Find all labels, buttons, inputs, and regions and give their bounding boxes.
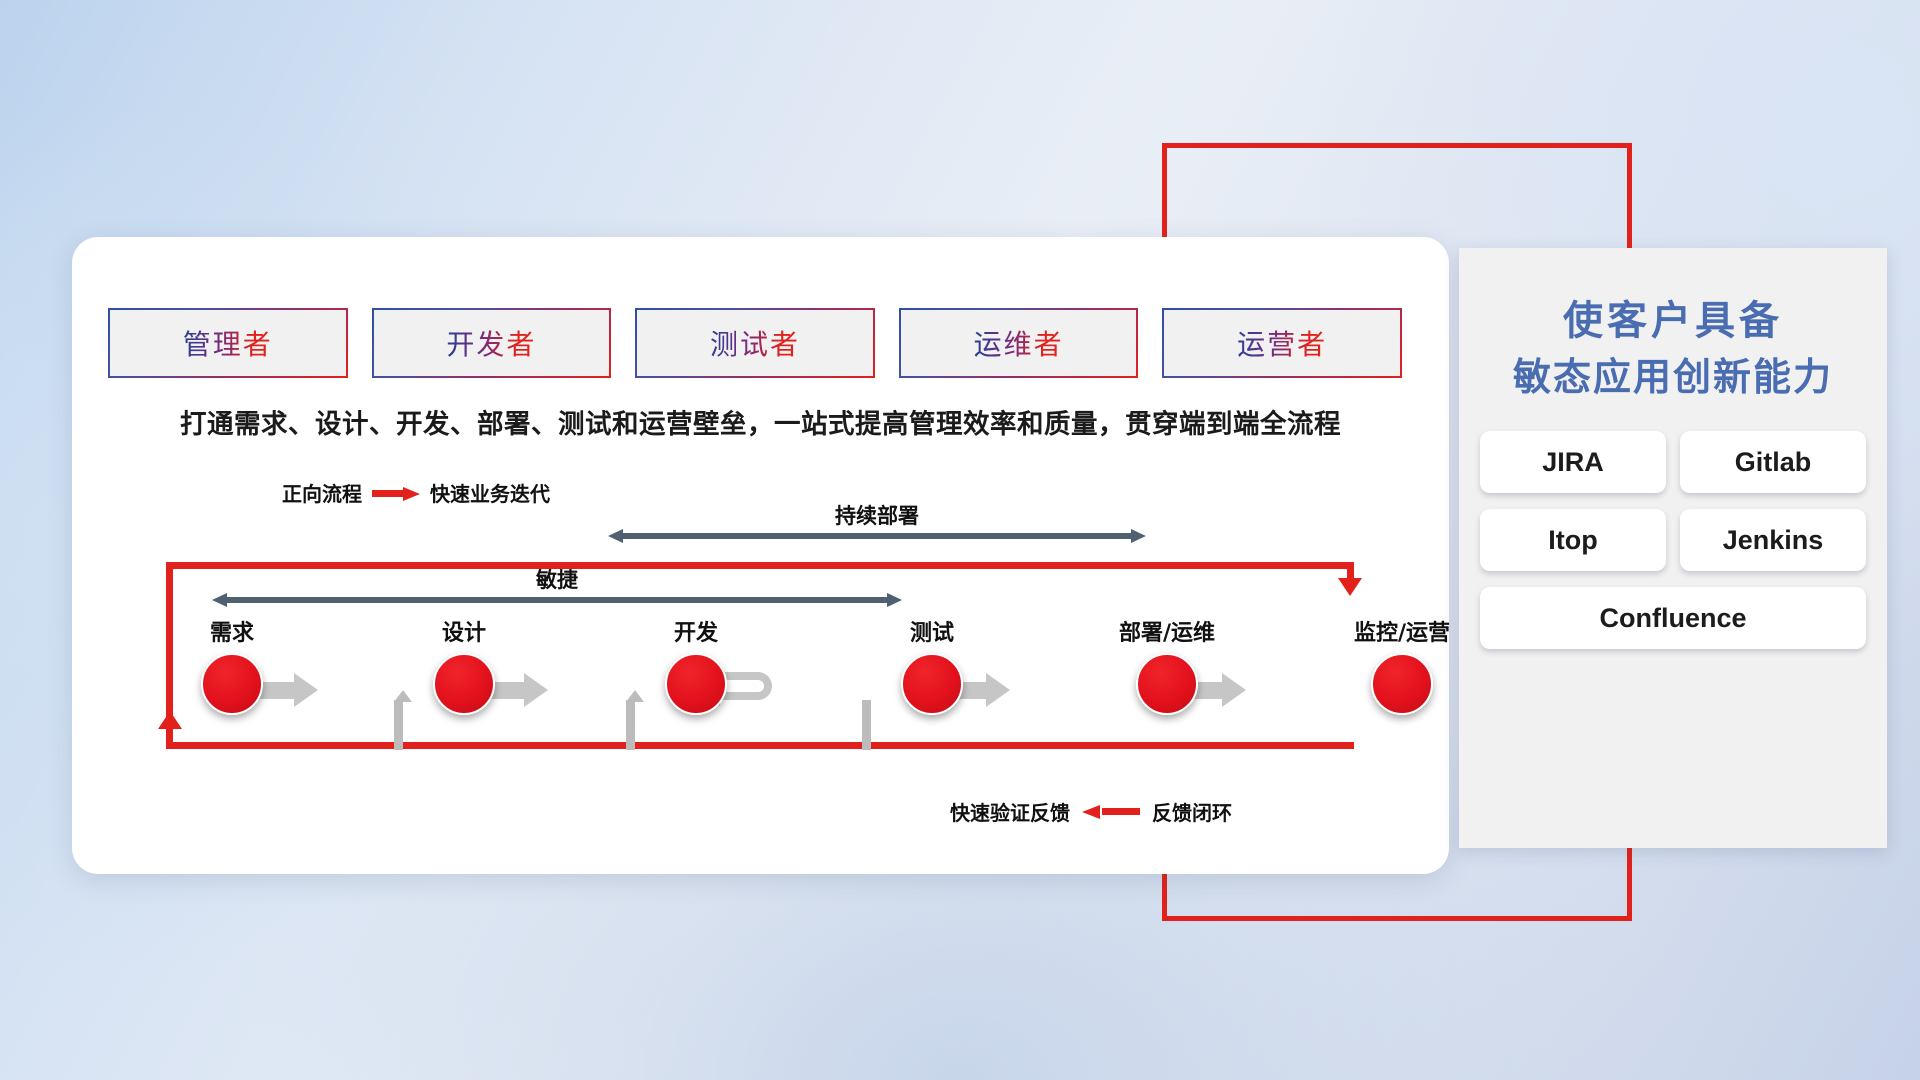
feedback-loop-top-edge bbox=[166, 562, 1354, 569]
stage-dot-icon bbox=[433, 653, 495, 715]
role-box-ops[interactable]: 运维者 bbox=[901, 310, 1137, 376]
right-panel: 使客户具备 敏态应用创新能力 JIRA Gitlab Itop Jenkins … bbox=[1459, 248, 1887, 848]
red-arrow-right-icon bbox=[372, 487, 420, 499]
pipeline-stage-deploy-ops[interactable]: 部署/运维 bbox=[1102, 615, 1232, 715]
stage-dot-icon bbox=[201, 653, 263, 715]
stage-dot-icon bbox=[665, 653, 727, 715]
span-label-continuous-deploy: 持续部署 bbox=[608, 500, 1146, 530]
role-label: 运维者 bbox=[974, 323, 1064, 363]
legend-forward-flow: 正向流程 快速业务迭代 bbox=[282, 478, 550, 507]
red-arrow-left-icon bbox=[1082, 805, 1140, 819]
role-box-developer[interactable]: 开发者 bbox=[374, 310, 610, 376]
role-box-tester[interactable]: 测试者 bbox=[637, 310, 873, 376]
tool-chip-jenkins[interactable]: Jenkins bbox=[1680, 509, 1866, 571]
panel-title-line2: 敏态应用创新能力 bbox=[1459, 352, 1887, 403]
role-box-row: 管理者 开发者 测试者 运维者 运营者 bbox=[110, 310, 1400, 376]
subtitle-text: 打通需求、设计、开发、部署、测试和运营壁垒，一站式提高管理效率和质量，贯穿端到端… bbox=[72, 402, 1449, 441]
stage-label: 监控/运营 bbox=[1337, 615, 1467, 647]
bracket-bottom-segment bbox=[1162, 916, 1632, 921]
feedback-loop-arrowhead-down-icon bbox=[1338, 578, 1362, 596]
stage-dot-icon bbox=[1371, 653, 1433, 715]
stage-label: 需求 bbox=[167, 615, 297, 647]
tool-chip-gitlab[interactable]: Gitlab bbox=[1680, 431, 1866, 493]
role-box-manager[interactable]: 管理者 bbox=[110, 310, 346, 376]
tool-chip-itop[interactable]: Itop bbox=[1480, 509, 1666, 571]
stage-label: 测试 bbox=[867, 615, 997, 647]
tool-chip-jira[interactable]: JIRA bbox=[1480, 431, 1666, 493]
pipeline-stage-monitor-operations[interactable]: 监控/运营 bbox=[1337, 615, 1467, 715]
stage-dot-icon bbox=[1136, 653, 1198, 715]
slide-canvas: 管理者 开发者 测试者 运维者 运营者 打通需求、设计、开发、部署、测试和运营壁… bbox=[0, 0, 1920, 1080]
double-arrow-continuous-deploy-icon bbox=[608, 529, 1146, 543]
bracket-top-segment bbox=[1162, 143, 1632, 148]
legend-feedback-target: 快速验证反馈 bbox=[950, 797, 1070, 826]
legend-feedback-label: 反馈闭环 bbox=[1152, 797, 1232, 826]
pipeline-stage-develop[interactable]: 开发 bbox=[631, 615, 761, 715]
role-label: 运营者 bbox=[1237, 323, 1327, 363]
double-arrow-agile-icon bbox=[212, 593, 902, 607]
pipeline-stage-test[interactable]: 测试 bbox=[867, 615, 997, 715]
pipeline-stage-row: 需求 设计 开发 测试 部署/运维 监控/运营 bbox=[72, 615, 1449, 745]
pipeline-stage-design[interactable]: 设计 bbox=[399, 615, 529, 715]
pipeline-stage-requirement[interactable]: 需求 bbox=[167, 615, 297, 715]
role-label: 开发者 bbox=[446, 323, 536, 363]
stage-dot-icon bbox=[901, 653, 963, 715]
tool-chip-confluence[interactable]: Confluence bbox=[1480, 587, 1866, 649]
tool-chip-grid: JIRA Gitlab Itop Jenkins Confluence bbox=[1475, 431, 1871, 649]
panel-title-line1: 使客户具备 bbox=[1459, 294, 1887, 348]
legend-feedback-loop: 快速验证反馈 反馈闭环 bbox=[950, 797, 1232, 826]
stage-label: 开发 bbox=[631, 615, 761, 647]
legend-forward-target: 快速业务迭代 bbox=[430, 478, 550, 507]
stage-label: 部署/运维 bbox=[1102, 615, 1232, 647]
role-label: 管理者 bbox=[183, 323, 273, 363]
bracket-left-segment bbox=[1162, 143, 1167, 249]
stage-label: 设计 bbox=[399, 615, 529, 647]
legend-forward-label: 正向流程 bbox=[282, 478, 362, 507]
role-label: 测试者 bbox=[710, 323, 800, 363]
role-box-operations[interactable]: 运营者 bbox=[1164, 310, 1400, 376]
